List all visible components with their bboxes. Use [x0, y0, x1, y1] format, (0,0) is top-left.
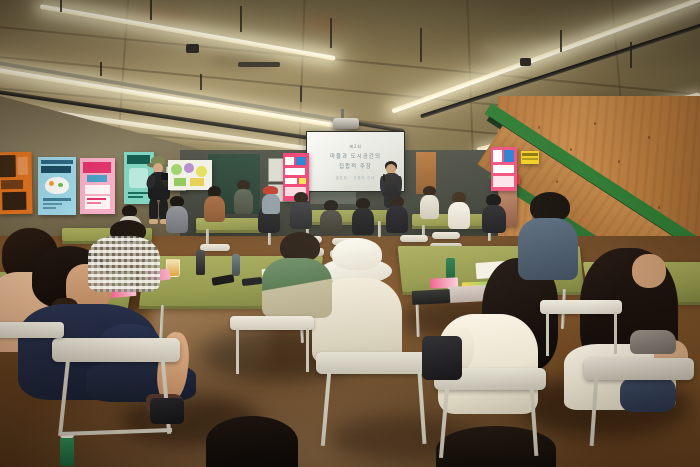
slide-heading: 제2회 — [349, 144, 361, 150]
junction-box — [520, 58, 531, 66]
audience-member — [386, 196, 408, 236]
slide-title-line2: 집합적 주장 — [339, 162, 372, 170]
audience-member — [448, 192, 470, 232]
stacking-chair — [52, 338, 180, 442]
man-blue-shirt-right — [518, 192, 580, 284]
photo-scene: 제2회 마을과 도시공간의 집합적 주장 발표자 · 진행자 안내 — [0, 0, 700, 467]
stacking-chair — [584, 358, 694, 452]
stacking-chair — [434, 368, 546, 464]
audience-member — [290, 192, 312, 232]
ceiling-projector — [333, 118, 359, 129]
bag — [150, 398, 184, 424]
audience-member — [204, 186, 226, 226]
man-checked-shirt — [88, 226, 166, 302]
red-cap — [263, 186, 278, 194]
stacking-chair — [230, 316, 316, 376]
magenta-banner — [491, 147, 517, 191]
sneaker — [630, 330, 676, 354]
audience-member-red-cap — [262, 186, 280, 216]
audience-member — [206, 416, 298, 467]
woman-green-sweater — [262, 236, 336, 324]
stacking-chair — [0, 322, 66, 412]
stacking-chair — [540, 300, 624, 358]
backpack — [422, 336, 462, 380]
cable-tray — [238, 62, 280, 67]
yellow-warning-sign — [521, 151, 539, 164]
pink-poster — [80, 158, 115, 214]
audience-member — [420, 186, 440, 222]
stacking-chair — [316, 352, 434, 452]
light-blue-poster — [38, 157, 76, 215]
orange-poster — [0, 152, 33, 215]
junction-box — [186, 44, 199, 53]
slide-title-line1: 마을과 도시공간의 — [330, 152, 381, 160]
audience-member — [166, 196, 188, 236]
audience-member — [234, 180, 254, 218]
audience-member — [352, 198, 374, 238]
audience-member — [320, 200, 342, 238]
audience-member — [482, 194, 506, 236]
water-bottle — [232, 254, 240, 276]
microphone — [383, 174, 385, 181]
slide-subtitle: 발표자 · 진행자 안내 — [336, 175, 375, 180]
